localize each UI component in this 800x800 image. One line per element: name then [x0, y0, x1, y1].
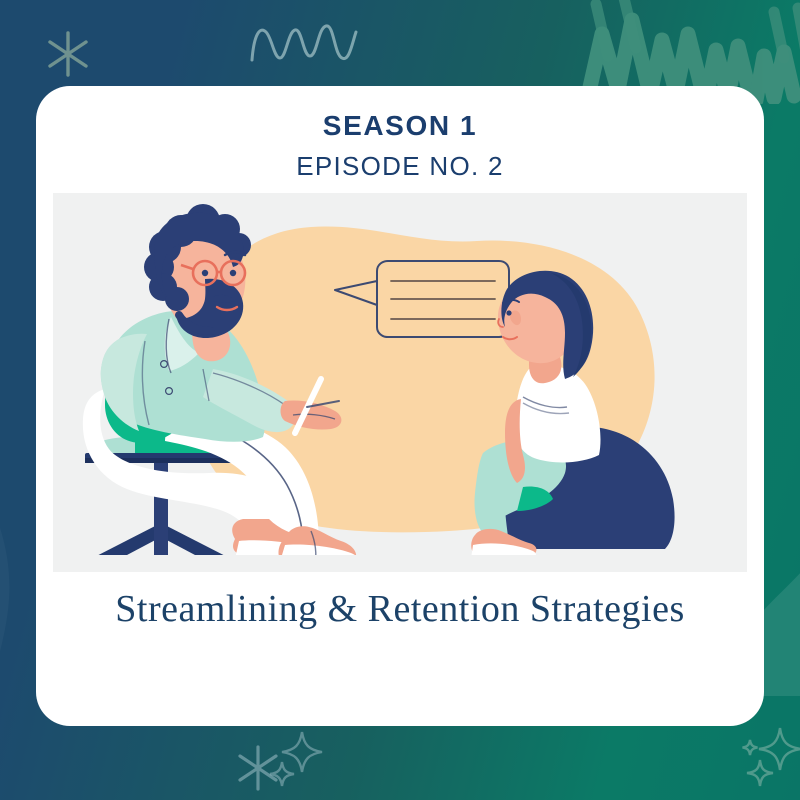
episode-number-label: EPISODE NO. 2 — [36, 149, 764, 184]
sparkles-decor-icon-left — [268, 728, 328, 792]
card-header: SEASON 1 EPISODE NO. 2 — [36, 86, 764, 184]
season-label: SEASON 1 — [36, 108, 764, 143]
asterisk-star-decor-icon-2 — [232, 742, 284, 794]
episode-title: Streamlining & Retention Strategies — [76, 586, 724, 634]
conversation-illustration-svg — [53, 193, 747, 572]
asterisk-star-decor-icon — [42, 28, 94, 80]
wave-line-decor-icon — [248, 18, 360, 64]
episode-illustration — [53, 193, 747, 572]
podcast-episode-poster: SEASON 1 EPISODE NO. 2 — [0, 0, 800, 800]
episode-card: SEASON 1 EPISODE NO. 2 — [36, 86, 764, 726]
sparkles-decor-icon-right — [742, 722, 800, 794]
